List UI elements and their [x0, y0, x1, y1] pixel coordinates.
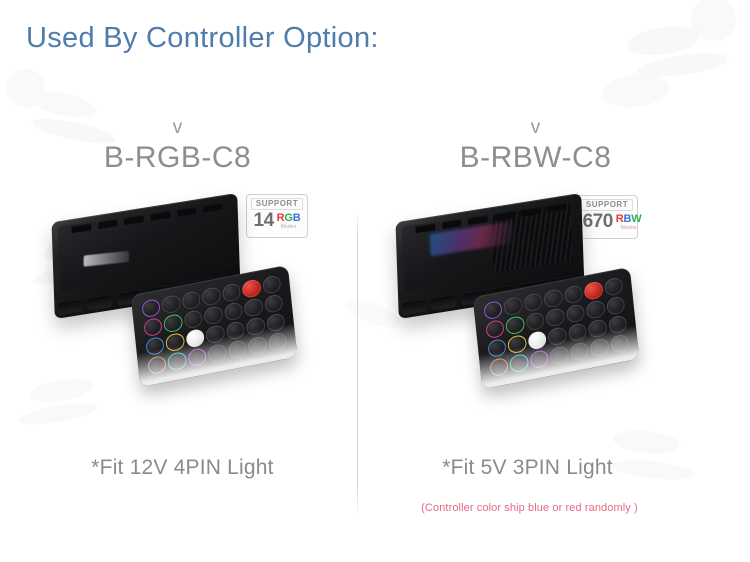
- remote-button: [141, 298, 161, 318]
- remote-button: [509, 353, 529, 373]
- remote-button: [227, 339, 247, 359]
- support-badge: SUPPORT 1670 RBW Modes: [576, 195, 638, 239]
- remote-button-grid: [141, 275, 287, 376]
- remote-button: [590, 337, 610, 357]
- model-name-label: B-RGB-C8: [0, 140, 355, 176]
- remote-button: [203, 305, 223, 325]
- remote-button: [569, 341, 589, 361]
- remote-button: [181, 290, 201, 310]
- support-badge-title: SUPPORT: [581, 199, 633, 211]
- controller-port: [71, 223, 91, 233]
- remote-power-button: [584, 280, 604, 300]
- remote-button: [201, 286, 221, 306]
- controller-port: [521, 207, 541, 217]
- support-badge-title: SUPPORT: [251, 198, 303, 210]
- support-badge-body: 1670 RBW Modes: [577, 212, 637, 232]
- controller-port: [432, 294, 456, 311]
- remote-button: [244, 297, 264, 317]
- controller-port: [150, 211, 170, 221]
- remote-button: [248, 335, 268, 355]
- controller-port: [415, 223, 435, 233]
- controller-option-rbw: v B-RBW-C8 SUPPORT 1670 RBW Modes: [358, 118, 713, 548]
- remote-button: [262, 275, 282, 295]
- remote-button: [610, 333, 630, 353]
- remote-button: [608, 314, 628, 334]
- controller-port: [177, 207, 197, 217]
- remote-button: [205, 324, 225, 344]
- remote-button: [266, 312, 286, 332]
- support-badge-mode: RGB Modes: [277, 213, 301, 230]
- down-chevron-icon: v: [358, 118, 713, 138]
- remote-button: [567, 322, 587, 342]
- controller-port: [442, 219, 462, 229]
- page-title: Used By Controller Option:: [26, 22, 379, 55]
- support-badge: SUPPORT 14 RGB Modes: [246, 194, 308, 238]
- remote-button: [223, 301, 243, 321]
- remote-button: [505, 315, 525, 335]
- remote-button: [163, 313, 183, 333]
- support-badge-letters: RGB: [277, 213, 301, 224]
- remote-button: [529, 349, 549, 369]
- support-badge-subtext: Modes: [621, 226, 637, 231]
- remote-button: [225, 320, 245, 340]
- model-name-label: B-RBW-C8: [358, 140, 713, 176]
- remote-button-grid: [483, 277, 629, 378]
- remote-button: [545, 307, 565, 327]
- controller-port: [88, 294, 112, 311]
- remote-button: [187, 347, 207, 367]
- remote-button: [606, 295, 626, 315]
- controller-port: [468, 215, 488, 225]
- remote-button: [549, 345, 569, 365]
- remote-button: [586, 299, 606, 319]
- remote-button: [565, 303, 585, 323]
- remote-button: [564, 284, 584, 304]
- controller-port: [402, 299, 426, 316]
- product-photo-rbw: SUPPORT 1670 RBW Modes: [358, 190, 713, 450]
- controller-brand-logo: [83, 251, 129, 267]
- remote-button: [268, 331, 288, 351]
- remote-button: [222, 282, 242, 302]
- controller-port: [203, 202, 223, 212]
- remote-button: [167, 351, 187, 371]
- remote-button: [547, 326, 567, 346]
- remote-button: [145, 336, 165, 356]
- support-badge-body: 14 RGB Modes: [247, 211, 307, 231]
- badge-letter-3: W: [631, 213, 641, 225]
- support-badge-subtext: Modes: [281, 225, 297, 230]
- remote-button: [503, 296, 523, 316]
- remote-button: [525, 311, 545, 331]
- badge-letter-1: R: [616, 213, 624, 225]
- controller-port: [494, 211, 514, 221]
- fit-caption: *Fit 5V 3PIN Light: [358, 456, 713, 480]
- product-photo-rgb: SUPPORT 14 RGB Modes: [0, 190, 355, 450]
- remote-white-button: [185, 328, 205, 348]
- remote-button: [543, 288, 563, 308]
- support-badge-mode: RBW Modes: [616, 214, 642, 231]
- badge-letter-3: B: [293, 212, 301, 224]
- randomness-note: (Controller color ship blue or red rando…: [358, 502, 713, 514]
- remote-button: [264, 293, 284, 313]
- remote-button: [604, 277, 624, 297]
- remote-button: [147, 355, 167, 375]
- remote-button: [523, 292, 543, 312]
- controller-top-ports: [71, 202, 222, 236]
- controller-option-rgb: v B-RGB-C8 SUPPORT 14 RGB Modes: [0, 118, 355, 548]
- support-badge-letters: RBW: [616, 214, 642, 225]
- remote-white-button: [527, 330, 547, 350]
- remote-button: [507, 334, 527, 354]
- remote-button: [485, 319, 505, 339]
- down-chevron-icon: v: [0, 118, 355, 138]
- fit-caption: *Fit 12V 4PIN Light: [0, 456, 355, 480]
- remote-power-button: [242, 278, 262, 298]
- remote-button: [483, 300, 503, 320]
- remote-button: [487, 338, 507, 358]
- remote-button: [588, 318, 608, 338]
- controller-port: [547, 202, 567, 212]
- remote-button: [207, 343, 227, 363]
- remote-button: [161, 294, 181, 314]
- remote-button: [246, 316, 266, 336]
- badge-letter-2: G: [284, 212, 292, 224]
- remote-button: [489, 357, 509, 377]
- support-badge-number: 14: [254, 211, 274, 231]
- remote-button: [183, 309, 203, 329]
- controller-port: [58, 299, 82, 316]
- remote-button: [165, 332, 185, 352]
- controller-port: [124, 215, 144, 225]
- controller-port: [98, 219, 118, 229]
- remote-button: [143, 317, 163, 337]
